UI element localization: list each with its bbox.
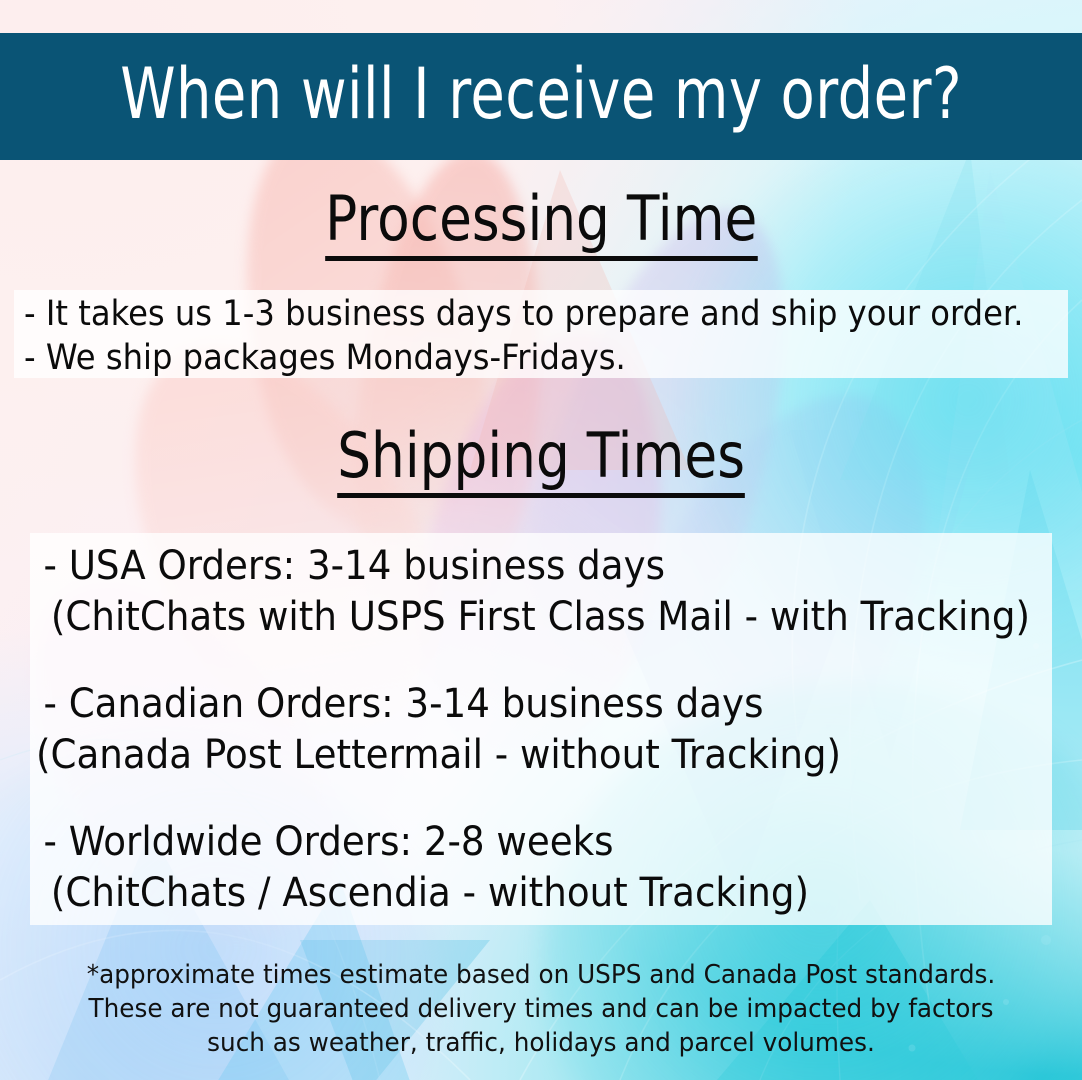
shipping-worldwide-line-2: (ChitChats / Ascendia - without Tracking… [36, 868, 981, 919]
processing-time-panel: - It takes us 1-3 business days to prepa… [14, 290, 1068, 378]
disclaimer-footnote: *approximate times estimate based on USP… [0, 958, 1082, 1060]
section-heading-shipping-times-label: Shipping Times [337, 425, 745, 498]
processing-line-1: - It takes us 1-3 business days to prepa… [24, 292, 984, 336]
footnote-line-2: These are not guaranteed delivery times … [27, 992, 1055, 1026]
footnote-line-1: *approximate times estimate based on USP… [27, 958, 1055, 992]
shipping-info-poster: When will I receive my order? Processing… [0, 0, 1082, 1080]
shipping-block-canada: - Canadian Orders: 3-14 business days (C… [36, 679, 1052, 781]
shipping-canada-line-2: (Canada Post Lettermail - without Tracki… [36, 730, 981, 781]
page-title: When will I receive my order? [120, 59, 962, 135]
processing-line-2: - We ship packages Mondays-Fridays. [24, 336, 984, 380]
shipping-block-worldwide: - Worldwide Orders: 2-8 weeks (ChitChats… [36, 817, 1052, 919]
footnote-line-3: such as weather, traffic, holidays and p… [27, 1026, 1055, 1060]
section-heading-processing-time: Processing Time [0, 188, 1082, 261]
section-heading-shipping-times: Shipping Times [0, 425, 1082, 498]
shipping-block-usa: - USA Orders: 3-14 business days (ChitCh… [36, 541, 1052, 643]
shipping-worldwide-line-1: - Worldwide Orders: 2-8 weeks [36, 817, 981, 868]
header-banner: When will I receive my order? [0, 33, 1082, 160]
section-heading-processing-time-label: Processing Time [325, 188, 757, 261]
shipping-usa-line-1: - USA Orders: 3-14 business days [36, 541, 981, 592]
shipping-times-panel: - USA Orders: 3-14 business days (ChitCh… [30, 533, 1052, 925]
shipping-canada-line-1: - Canadian Orders: 3-14 business days [36, 679, 981, 730]
shipping-usa-line-2: (ChitChats with USPS First Class Mail - … [36, 592, 981, 643]
